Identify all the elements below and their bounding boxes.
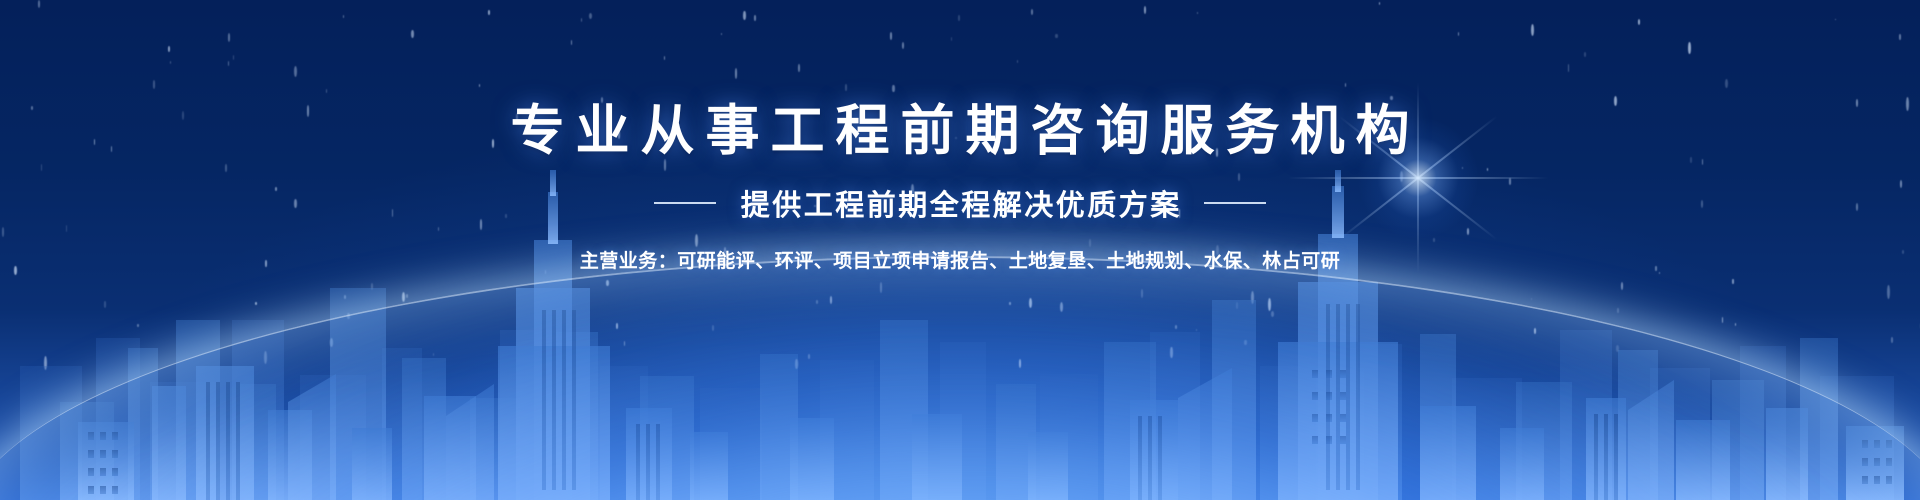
page-title: 专业从事工程前期咨询服务机构: [500, 104, 1421, 158]
banner-content: 专业从事工程前期咨询服务机构 提供工程前期全程解决优质方案 主营业务：可研能评、…: [0, 0, 1920, 500]
subtitle: 提供工程前期全程解决优质方案: [738, 182, 1182, 224]
subtitle-rule-left: [654, 202, 716, 204]
business-scope-text: 主营业务：可研能评、环评、项目立项申请报告、土地复垦、土地规划、水保、林占可研: [580, 246, 1341, 273]
hero-banner: 专业从事工程前期咨询服务机构 提供工程前期全程解决优质方案 主营业务：可研能评、…: [0, 0, 1920, 500]
subtitle-row: 提供工程前期全程解决优质方案: [654, 182, 1266, 224]
subtitle-rule-right: [1204, 202, 1266, 204]
